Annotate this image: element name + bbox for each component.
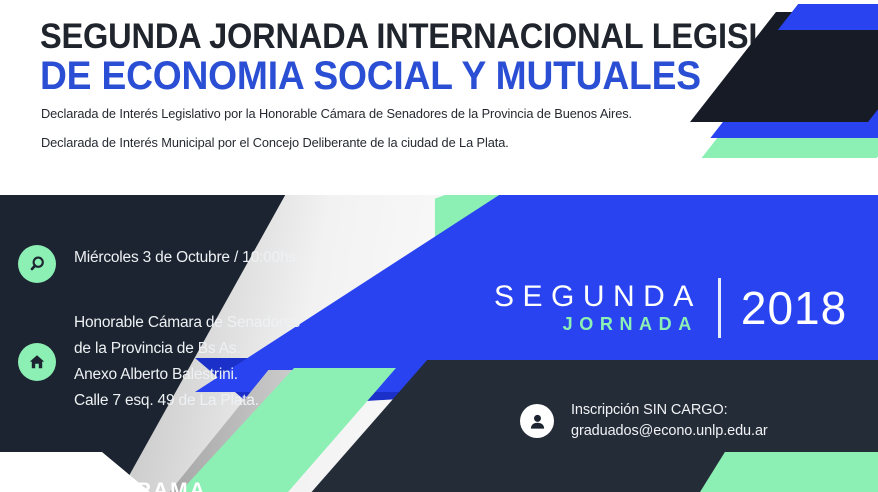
venue-line-3: Anexo Alberto Balestrini. xyxy=(74,362,300,388)
programa-heading: PROGRAMA xyxy=(66,479,207,492)
logo-divider xyxy=(718,278,721,338)
page-title-line1: SEGUNDA JORNADA INTERNACIONAL LEGISLATIV… xyxy=(40,17,860,57)
event-date-row: Miércoles 3 de Octubre / 10:00hs. xyxy=(18,245,300,283)
event-poster: SEGUNDA JORNADA INTERNACIONAL LEGISLATIV… xyxy=(0,0,878,492)
logo-secondary-text: JORNADA xyxy=(494,313,702,335)
page-title-line2: DE ECONOMIA SOCIAL Y MUTUALES xyxy=(40,54,701,99)
registration-info: Inscripción SIN CARGO: graduados@econo.u… xyxy=(520,400,768,442)
logo-words: SEGUNDA JORNADA xyxy=(494,281,702,335)
event-venue-text: Honorable Cámara de Senadores de la Prov… xyxy=(74,310,300,414)
venue-line-1: Honorable Cámara de Senadores xyxy=(74,310,300,336)
registration-text: Inscripción SIN CARGO: graduados@econo.u… xyxy=(571,400,768,442)
logo-year-text: 2018 xyxy=(741,284,847,332)
event-logo-lockup: SEGUNDA JORNADA 2018 xyxy=(494,278,847,338)
event-date-text: Miércoles 3 de Octubre / 10:00hs. xyxy=(74,245,300,271)
venue-line-4: Calle 7 esq. 49 de La Plata. xyxy=(74,388,300,414)
logo-primary-text: SEGUNDA xyxy=(494,281,702,313)
person-icon xyxy=(520,404,554,438)
declaration-line-1: Declarada de Interés Legislativo por la … xyxy=(41,106,632,121)
registration-line-1: Inscripción SIN CARGO: xyxy=(571,400,768,421)
venue-line-2: de la Provincia de Bs As. xyxy=(74,336,300,362)
mint-corner-shape xyxy=(700,452,878,492)
registration-email[interactable]: graduados@econo.unlp.edu.ar xyxy=(571,421,768,442)
clock-search-icon xyxy=(18,245,56,283)
home-icon xyxy=(18,343,56,381)
event-venue-row: Honorable Cámara de Senadores de la Prov… xyxy=(18,310,300,414)
declaration-line-2: Declarada de Interés Municipal por el Co… xyxy=(41,135,509,150)
